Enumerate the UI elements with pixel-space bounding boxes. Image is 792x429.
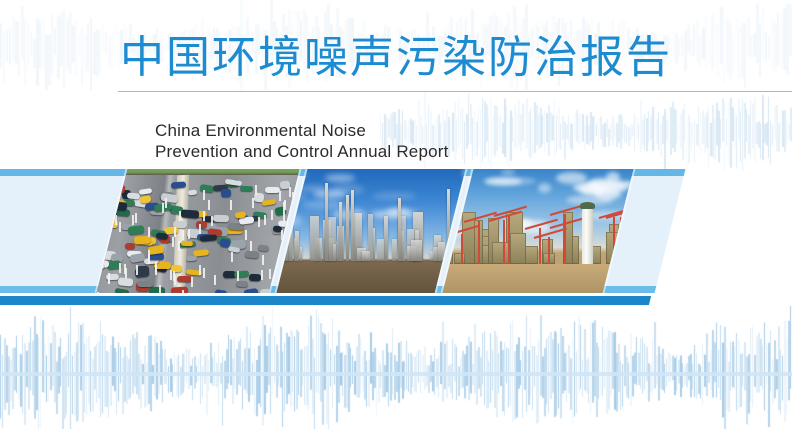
waveform-baseline — [0, 372, 792, 376]
title-slide: 中国环境噪声污染防治报告 China Environmental Noise P… — [0, 0, 792, 429]
page-subtitle-english: China Environmental Noise Prevention and… — [155, 120, 449, 162]
waveform-bottom-decoration — [0, 306, 792, 429]
title-underline — [118, 91, 792, 92]
banner-accent-bar — [0, 296, 651, 305]
photo-banner-shape — [0, 169, 685, 293]
page-title-chinese: 中国环境噪声污染防治报告 — [0, 32, 792, 84]
